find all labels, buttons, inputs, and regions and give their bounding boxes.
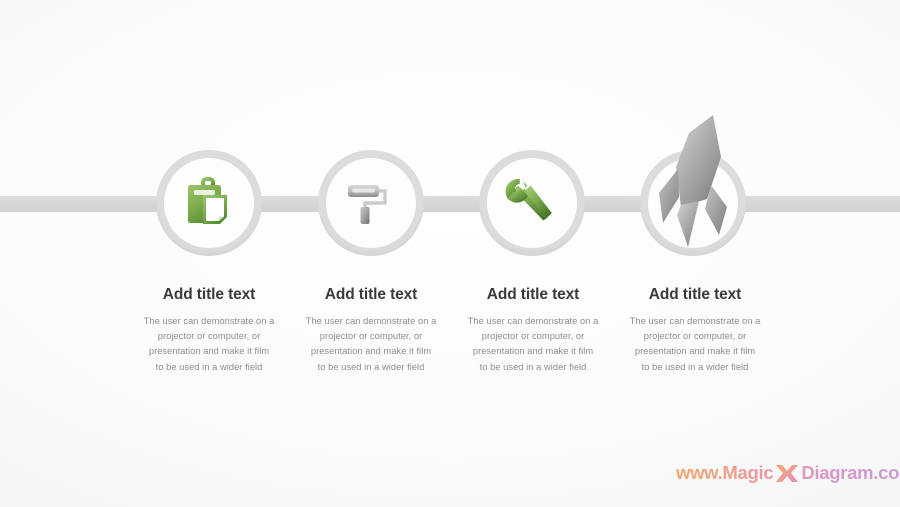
step-2-body-line-1: The user can demonstrate on a: [294, 314, 448, 329]
step-2-body-line-3: presentation and make it film: [294, 344, 448, 359]
step-3-body-line-3: presentation and make it film: [456, 344, 610, 359]
step-4-body-line-4: to be used in a wider field: [618, 360, 772, 375]
step-3-body: The user can demonstrate on a projector …: [456, 314, 610, 375]
step-3-body-line-4: to be used in a wider field: [456, 360, 610, 375]
step-caption-3: Add title text The user can demonstrate …: [452, 286, 614, 375]
step-1-body-line-1: The user can demonstrate on a: [132, 314, 286, 329]
process-chain-graphic: [0, 0, 900, 507]
step-2-body: The user can demonstrate on a projector …: [294, 314, 448, 375]
clipboard-icon: [183, 177, 235, 229]
step-4-icon-container[interactable]: [639, 149, 747, 257]
watermark-logo[interactable]: www.Magic Diagram.com: [676, 461, 900, 485]
slide-canvas: Add title text The user can demonstrate …: [0, 0, 900, 507]
wrench-icon: [505, 176, 559, 230]
step-3-icon-container[interactable]: [478, 149, 586, 257]
step-3-title: Add title text: [456, 286, 610, 305]
step-4-title: Add title text: [618, 286, 772, 305]
caption-row: Add title text The user can demonstrate …: [128, 286, 776, 375]
step-1-body: The user can demonstrate on a projector …: [132, 314, 286, 375]
rocket-icon: [647, 111, 739, 257]
step-2-body-line-4: to be used in a wider field: [294, 360, 448, 375]
step-4-body-line-3: presentation and make it film: [618, 344, 772, 359]
step-2-body-line-2: projector or computer, or: [294, 329, 448, 344]
step-4-body-line-2: projector or computer, or: [618, 329, 772, 344]
step-1-body-line-4: to be used in a wider field: [132, 360, 286, 375]
step-4-body-line-1: The user can demonstrate on a: [618, 314, 772, 329]
step-2-title: Add title text: [294, 286, 448, 305]
watermark-suffix: Diagram.com: [801, 462, 900, 484]
step-caption-1: Add title text The user can demonstrate …: [128, 286, 290, 375]
step-2-icon-container[interactable]: [317, 149, 425, 257]
step-caption-4: Add title text The user can demonstrate …: [614, 286, 776, 375]
step-3-body-line-1: The user can demonstrate on a: [456, 314, 610, 329]
step-1-body-line-3: presentation and make it film: [132, 344, 286, 359]
step-3-body-line-2: projector or computer, or: [456, 329, 610, 344]
paint-roller-icon: [345, 177, 397, 229]
watermark-prefix: www.Magic: [676, 462, 773, 484]
step-4-body: The user can demonstrate on a projector …: [618, 314, 772, 375]
step-1-icon-container[interactable]: [155, 149, 263, 257]
step-1-body-line-2: projector or computer, or: [132, 329, 286, 344]
magicdiagram-logo-icon: [774, 463, 800, 485]
step-caption-2: Add title text The user can demonstrate …: [290, 286, 452, 375]
step-1-title: Add title text: [132, 286, 286, 305]
